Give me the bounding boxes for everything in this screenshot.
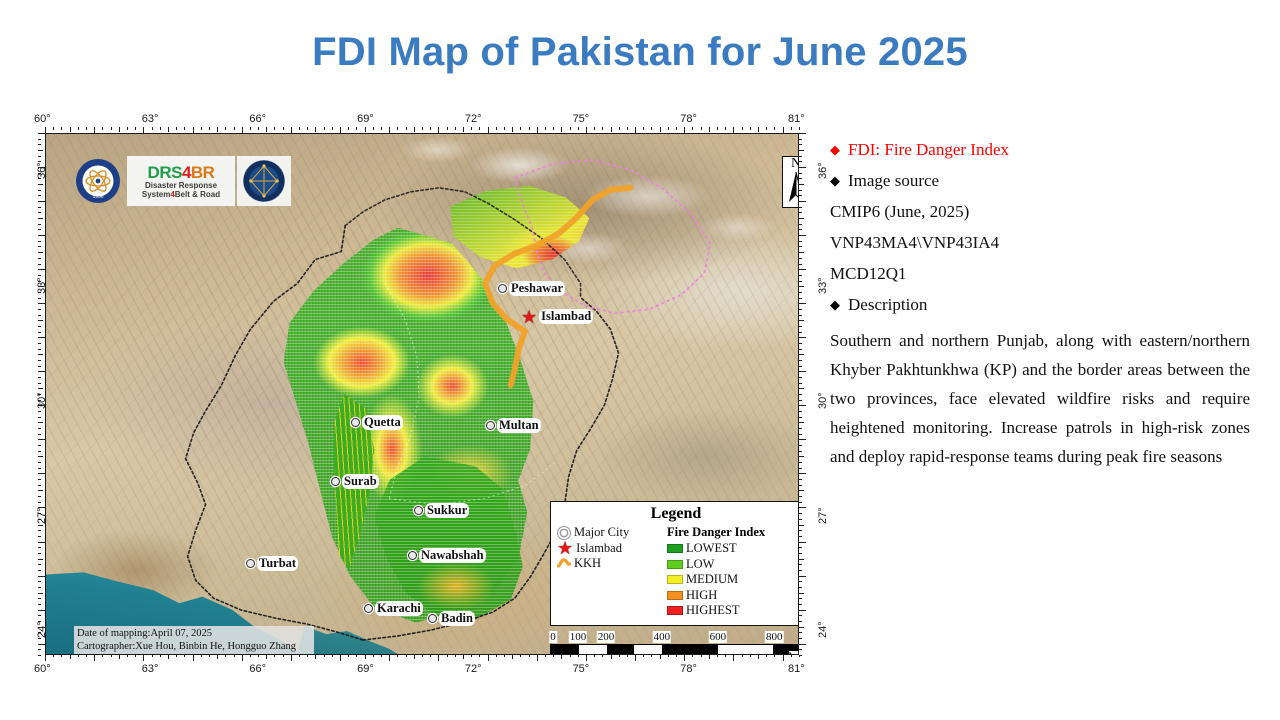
scale-tick-label: 400	[653, 631, 672, 643]
graticule-tick	[660, 127, 661, 132]
graticule-tick	[799, 315, 802, 316]
scale-tick-label: 800	[765, 631, 784, 643]
legend-symbol-row: ★Islambad	[557, 541, 661, 557]
scale-tick-label: 0	[549, 631, 557, 643]
scale-bar-segments	[550, 644, 799, 655]
legend-class-row: LOWEST	[667, 541, 795, 557]
graticule-tick	[38, 241, 41, 242]
graticule-tick	[38, 598, 41, 599]
legend-color-swatch	[667, 544, 683, 553]
graticule-tick	[799, 264, 802, 265]
graticule-tick	[160, 127, 161, 130]
scale-bar: 0100200400600800 km	[550, 631, 799, 655]
graticule-tick	[283, 127, 284, 130]
graticule-tick	[799, 150, 804, 151]
graticule-tick	[799, 167, 806, 168]
city-label-karachi: Karachi	[364, 601, 423, 616]
graticule-tick	[799, 542, 806, 543]
uestc-logo: 1956	[71, 156, 125, 206]
graticule-tick	[733, 654, 734, 661]
graticule-tick	[799, 173, 802, 174]
lat-tick-label: 36°	[817, 162, 829, 179]
graticule-tick	[725, 127, 726, 130]
graticule-tick	[799, 405, 806, 406]
fdi-definition-text: FDI: Fire Danger Index	[848, 140, 1009, 160]
city-label-sukkur: Sukkur	[414, 503, 469, 518]
graticule-tick	[799, 507, 806, 508]
graticule-tick	[184, 127, 185, 130]
graticule-tick	[38, 139, 41, 140]
graticule-tick	[799, 190, 802, 191]
scale-tick-label: 100	[569, 631, 588, 643]
graticule-tick	[799, 298, 802, 299]
graticule-tick	[799, 394, 802, 395]
page-title: FDI Map of Pakistan for June 2025	[0, 30, 1280, 75]
graticule-tick	[799, 479, 802, 480]
graticule-tick	[38, 309, 41, 310]
graticule-tick	[586, 654, 587, 661]
graticule-tick	[651, 127, 652, 130]
graticule-tick	[38, 456, 43, 457]
city-marker-icon	[498, 284, 507, 293]
legend-color-swatch	[667, 575, 683, 584]
graticule-tick	[578, 127, 579, 130]
city-name-text: Turbat	[257, 556, 298, 571]
graticule-tick	[152, 127, 153, 130]
graticule-tick	[799, 445, 802, 446]
lon-tick-label: 60°	[34, 663, 51, 675]
graticule-tick	[799, 553, 802, 554]
graticule-tick	[758, 127, 759, 132]
graticule-tick	[692, 127, 693, 130]
city-name-text: Badin	[439, 611, 475, 626]
lon-tick-label: 81°	[788, 113, 805, 125]
description-text: Southern and northern Punjab, along with…	[830, 326, 1250, 471]
graticule-tick	[38, 354, 43, 355]
graticule-tick	[799, 349, 802, 350]
provincial-boundary-line	[385, 283, 419, 498]
graticule-tick	[38, 439, 45, 440]
image-source-list: CMIP6 (June, 2025)VNP43MA4\VNP43IA4MCD12…	[830, 202, 1250, 284]
graticule-tick	[38, 218, 43, 219]
graticule-tick	[799, 235, 806, 236]
graticule-tick	[38, 604, 41, 605]
graticule-tick	[799, 371, 806, 372]
graticule-tick	[799, 451, 802, 452]
graticule-tick	[799, 156, 802, 157]
graticule-tick	[799, 354, 804, 355]
graticule-tick	[38, 326, 41, 327]
graticule-tick	[799, 411, 802, 412]
image-source-line: MCD12Q1	[830, 264, 1250, 284]
graticule-tick	[365, 127, 366, 132]
legend-color-swatch	[667, 606, 683, 615]
graticule-tick	[799, 400, 802, 401]
graticule-tick	[627, 127, 628, 130]
city-name-text: Peshawar	[509, 281, 565, 296]
graticule-tick	[799, 587, 802, 588]
graticule-tick	[799, 621, 802, 622]
graticule-tick	[38, 615, 41, 616]
legend-class-label: HIGH	[686, 588, 717, 604]
legend-panel: Legend Major City★IslambadKKH Fire Dange…	[550, 501, 799, 626]
city-name-text: Sukkur	[425, 503, 469, 518]
city-marker-icon	[331, 477, 340, 486]
graticule-tick	[38, 468, 41, 469]
city-name-text: Islambad	[539, 309, 593, 324]
graticule-tick	[619, 127, 620, 130]
graticule-tick	[766, 127, 767, 130]
city-name-text: Nawabshah	[419, 548, 486, 563]
graticule-tick	[38, 576, 45, 577]
city-label-surab: Surab	[331, 474, 379, 489]
legend-class-header: Fire Danger Index	[667, 525, 795, 540]
graticule-tick	[799, 161, 802, 162]
graticule-tick	[717, 127, 718, 130]
graticule-tick	[799, 570, 802, 571]
graticule-tick	[78, 127, 79, 130]
graticule-tick	[799, 417, 802, 418]
graticule-tick	[193, 654, 194, 661]
graticule-tick	[799, 184, 804, 185]
graticule-tick	[38, 212, 41, 213]
graticule-tick	[38, 246, 41, 247]
city-label-turbat: Turbat	[246, 556, 298, 571]
graticule-tick	[799, 343, 802, 344]
lat-tick-label: 33°	[817, 277, 829, 294]
graticule-tick	[488, 654, 489, 661]
city-marker-icon	[351, 418, 360, 427]
graticule-tick	[38, 383, 41, 384]
graticule-tick	[799, 547, 802, 548]
fdi-definition-row: ◆ FDI: Fire Danger Index	[830, 140, 1250, 160]
graticule-tick	[38, 610, 45, 611]
graticule-tick	[217, 127, 218, 132]
graticule-tick	[799, 309, 802, 310]
legend-symbol-label: Islambad	[576, 541, 622, 557]
graticule-tick	[38, 417, 41, 418]
graticule-tick	[504, 127, 505, 130]
graticule-tick	[799, 139, 802, 140]
lat-tick-label: 30°	[36, 392, 48, 409]
graticule-tick	[242, 654, 243, 661]
graticule-tick	[783, 654, 784, 661]
graticule-tick	[799, 275, 802, 276]
lon-tick-label: 72°	[465, 113, 482, 125]
graticule-tick	[799, 178, 802, 179]
graticule-tick	[266, 127, 267, 132]
legend-class-row: MEDIUM	[667, 572, 795, 588]
graticule-tick	[340, 654, 341, 661]
kkh-line-icon	[557, 557, 571, 570]
legend-symbol-row: KKH	[557, 556, 661, 572]
graticule-ruler-bottom	[45, 654, 799, 661]
graticule-tick	[799, 559, 804, 560]
city-marker-icon	[428, 614, 437, 623]
graticule-tick	[38, 315, 41, 316]
graticule-tick	[668, 127, 669, 130]
legend-class-label: LOWEST	[686, 541, 737, 557]
graticule-tick	[799, 286, 804, 287]
graticule-tick	[799, 303, 806, 304]
graticule-tick	[38, 258, 41, 259]
graticule-tick	[799, 422, 804, 423]
graticule-tick	[381, 127, 382, 130]
legend-class-label: LOW	[686, 557, 714, 573]
description-row: ◆ Description	[830, 295, 1250, 315]
graticule-tick	[684, 654, 685, 661]
graticule-tick	[438, 654, 439, 661]
graticule-tick	[38, 428, 41, 429]
drs4br-tagline-line1: Disaster Response	[145, 181, 217, 190]
graticule-tick	[611, 127, 612, 132]
graticule-tick	[799, 632, 802, 633]
image-source-line: CMIP6 (June, 2025)	[830, 202, 1250, 222]
legend-symbol-label: KKH	[574, 556, 601, 572]
graticule-tick	[537, 654, 538, 661]
graticule-tick	[799, 127, 800, 130]
graticule-tick	[553, 127, 554, 130]
graticule-tick	[38, 542, 45, 543]
graticule-tick	[799, 224, 802, 225]
graticule-tick	[799, 195, 802, 196]
city-marker-icon	[246, 559, 255, 568]
lon-tick-label: 78°	[680, 113, 697, 125]
legend-title: Legend	[557, 505, 795, 523]
graticule-tick	[201, 127, 202, 130]
graticule-tick	[332, 127, 333, 130]
graticule-tick	[38, 371, 45, 372]
graticule-tick	[38, 349, 41, 350]
lon-tick-label: 63°	[142, 663, 159, 675]
logo-strip: 1956 DRS4BR Disaster Response System4Bel…	[71, 156, 291, 206]
graticule-tick	[307, 127, 308, 130]
graticule-tick	[799, 473, 806, 474]
city-marker-icon	[364, 604, 373, 613]
graticule-tick	[799, 332, 802, 333]
graticule-tick	[799, 201, 806, 202]
graticule-tick	[86, 127, 87, 130]
graticule-tick	[315, 127, 316, 132]
graticule-tick	[774, 127, 775, 130]
legend-class-column: Fire Danger Index LOWESTLOWMEDIUMHIGHHIG…	[667, 525, 795, 619]
graticule-tick	[799, 218, 804, 219]
city-label-peshawar: Peshawar	[498, 281, 565, 296]
graticule-tick	[38, 496, 41, 497]
graticule-tick	[799, 434, 802, 435]
city-marker-icon	[408, 551, 417, 560]
graticule-tick	[38, 275, 41, 276]
graticule-tick	[676, 127, 677, 130]
lon-tick-label: 81°	[788, 663, 805, 675]
graticule-tick	[799, 519, 802, 520]
drs4br-logo: DRS4BR Disaster Response System4Belt & R…	[127, 156, 235, 206]
lon-tick-label: 63°	[142, 113, 159, 125]
graticule-tick	[258, 127, 259, 130]
graticule-tick	[143, 654, 144, 661]
graticule-tick	[38, 473, 45, 474]
graticule-tick	[38, 184, 43, 185]
graticule-tick	[38, 269, 45, 270]
graticule-tick	[520, 127, 521, 130]
graticule-tick	[799, 655, 802, 656]
graticule-tick	[799, 246, 802, 247]
graticule-tick	[38, 190, 41, 191]
graticule-tick	[38, 264, 41, 265]
graticule-tick	[38, 377, 41, 378]
graticule-tick	[38, 530, 41, 531]
graticule-tick	[701, 127, 702, 130]
legend-class-row: HIGHEST	[667, 603, 795, 619]
graticule-tick	[38, 201, 45, 202]
diamond-bullet-icon: ◆	[830, 295, 840, 315]
graticule-tick	[373, 127, 374, 130]
graticule-tick	[324, 127, 325, 130]
legend-color-swatch	[667, 560, 683, 569]
graticule-tick	[38, 655, 41, 656]
graticule-tick	[119, 127, 120, 132]
lon-tick-label: 60°	[34, 113, 51, 125]
city-name-text: Karachi	[375, 601, 423, 616]
city-name-text: Surab	[342, 474, 379, 489]
graticule-tick	[38, 553, 41, 554]
graticule-tick	[38, 337, 45, 338]
lat-tick-label: 30°	[817, 392, 829, 409]
graticule-tick	[750, 127, 751, 130]
graticule-tick	[799, 513, 802, 514]
graticule-tick	[635, 654, 636, 661]
lon-tick-label: 78°	[680, 663, 697, 675]
legend-class-row: LOW	[667, 557, 795, 573]
lat-tick-label: 24°	[36, 622, 48, 639]
graticule-tick	[602, 127, 603, 130]
graticule-tick	[348, 127, 349, 130]
graticule-tick	[38, 593, 43, 594]
image-source-heading: Image source	[848, 171, 939, 191]
graticule-tick	[594, 127, 595, 130]
graticule-tick	[38, 133, 45, 134]
graticule-tick	[422, 127, 423, 130]
city-label-badin: Badin	[428, 611, 475, 626]
graticule-tick	[38, 360, 41, 361]
legend-color-swatch	[667, 591, 683, 600]
map-credits-box: Date of mapping:April 07, 2025 Cartograp…	[74, 626, 314, 655]
legend-symbol-column: Major City★IslambadKKH	[557, 525, 661, 619]
graticule-tick	[529, 127, 530, 130]
city-name-text: Quetta	[362, 415, 403, 430]
graticule-tick	[414, 127, 415, 132]
graticule-tick	[799, 644, 806, 645]
description-heading: Description	[848, 295, 927, 315]
graticule-tick	[799, 241, 802, 242]
graticule-tick	[38, 649, 41, 650]
graticule-tick	[791, 127, 792, 130]
graticule-tick	[45, 654, 46, 661]
graticule-tick	[38, 320, 43, 321]
north-arrow-glyph	[785, 171, 799, 203]
city-marker-icon	[486, 421, 495, 430]
drs4br-tagline-line2: System4Belt & Road	[142, 190, 220, 199]
image-source-line: VNP43MA4\VNP43IA4	[830, 233, 1250, 253]
city-name-text: Multan	[497, 418, 541, 433]
legend-symbol-label: Major City	[574, 525, 629, 541]
graticule-tick	[111, 127, 112, 130]
graticule-tick	[799, 326, 802, 327]
graticule-tick	[799, 598, 802, 599]
graticule-tick	[168, 127, 169, 132]
graticule-tick	[38, 298, 41, 299]
graticule-tick	[799, 530, 802, 531]
graticule-tick	[70, 127, 71, 132]
graticule-tick	[38, 581, 41, 582]
graticule-tick	[799, 439, 806, 440]
mapping-date: Date of mapping:April 07, 2025	[77, 628, 311, 641]
capital-star-icon: ★	[521, 311, 537, 323]
graticule-tick	[38, 502, 41, 503]
city-label-multan: Multan	[486, 418, 541, 433]
graticule-tick	[225, 127, 226, 130]
map-canvas: 1956 DRS4BR Disaster Response System4Bel…	[45, 133, 799, 655]
lat-tick-label: 33°	[36, 277, 48, 294]
lon-tick-label: 75°	[573, 663, 590, 675]
graticule-tick	[38, 547, 41, 548]
city-label-nawabshah: Nawabshah	[408, 548, 486, 563]
cartographer: Cartographer:Xue Hou, Binbin He, Hongguo…	[77, 641, 311, 654]
legend-class-row: HIGH	[667, 588, 795, 604]
graticule-tick	[799, 258, 802, 259]
lon-tick-label: 72°	[465, 663, 482, 675]
graticule-tick	[38, 224, 41, 225]
graticule-tick	[799, 502, 802, 503]
graticule-ruler-right	[799, 133, 806, 655]
graticule-tick	[38, 388, 43, 389]
drs4br-wordmark: DRS4BR	[148, 164, 215, 181]
graticule-tick	[94, 654, 95, 661]
graticule-tick	[799, 627, 804, 628]
graticule-tick	[299, 127, 300, 130]
graticule-tick	[38, 303, 45, 304]
graticule-tick	[799, 593, 804, 594]
graticule-tick	[799, 252, 804, 253]
graticule-tick	[176, 127, 177, 130]
legend-class-label: MEDIUM	[686, 572, 738, 588]
graticule-tick	[742, 127, 743, 130]
graticule-tick	[799, 144, 802, 145]
graticule-tick	[455, 127, 456, 130]
graticule-tick	[799, 292, 802, 293]
graticule-tick	[799, 366, 802, 367]
graticule-tick	[799, 360, 802, 361]
graticule-tick	[38, 451, 41, 452]
graticule-tick	[799, 133, 806, 134]
city-marker-icon	[414, 506, 423, 515]
graticule-tick	[447, 127, 448, 130]
graticule-tick	[250, 127, 251, 130]
graticule-tick	[799, 525, 804, 526]
graticule-tick	[38, 462, 41, 463]
lon-tick-label: 69°	[357, 663, 374, 675]
graticule-tick	[234, 127, 235, 130]
graticule-tick	[799, 269, 806, 270]
graticule-tick	[799, 581, 802, 582]
graticule-tick	[38, 490, 43, 491]
graticule-tick	[53, 127, 54, 130]
graticule-tick	[799, 377, 802, 378]
graticule-tick	[799, 649, 802, 650]
lon-tick-label: 69°	[357, 113, 374, 125]
graticule-tick	[291, 654, 292, 661]
graticule-tick	[799, 496, 802, 497]
